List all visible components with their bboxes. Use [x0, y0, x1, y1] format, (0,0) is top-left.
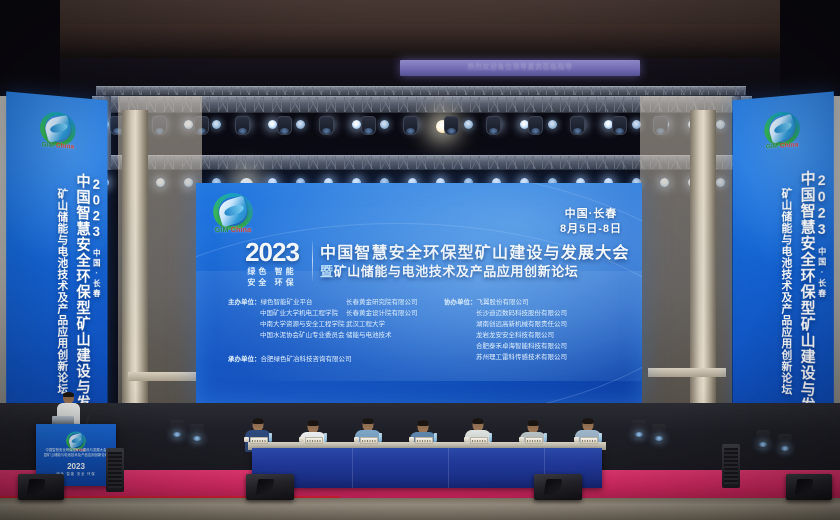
- stage-light-right-2: [652, 424, 666, 442]
- logo-text-sub-bl: China: [56, 143, 74, 151]
- coorg-item-4: 合肥泰禾卓海智能科技有限公司: [444, 341, 567, 352]
- organizer-value: 合肥绿色矿冶科技咨询有限公司: [261, 356, 352, 363]
- tea-cup: [519, 437, 524, 442]
- gim-china-logo-banner-right: GIM China: [762, 110, 803, 155]
- moving-head-fixture: [528, 116, 543, 135]
- stage-monitor-3: [534, 474, 582, 500]
- main-led-screen: GIM China 中国·长春 8月5日-8日 2023 绿色 智能 安全 环保…: [196, 183, 642, 403]
- panelist-nameplate: [415, 437, 433, 444]
- moving-head-fixture: [277, 116, 292, 135]
- moving-head-fixture: [486, 116, 501, 135]
- ceiling-shadow-right: [780, 0, 840, 96]
- podium-sign-line2: 暨矿山储能与电池技术及产品应用创新论坛: [39, 453, 113, 458]
- event-title-main: 中国智慧安全环保型矿山建设与发展大会: [320, 239, 630, 263]
- panelist-hair: [583, 418, 594, 424]
- hosts-label: 主办单位：: [228, 299, 261, 306]
- conference-stage-photo: 热烈欢迎各位领导嘉宾莅临指导 GIM China 2023 中国·长春 中国智慧…: [0, 0, 840, 520]
- venue-led-ticker: 热烈欢迎各位领导嘉宾莅临指导: [400, 60, 640, 76]
- water-bottle: [434, 433, 437, 442]
- panelist-hair: [473, 418, 484, 424]
- hosts-column-1: 主办单位：绿色智能矿业平台 中国矿业大学机电工程学院 中南大学资源与安全工程学院…: [228, 297, 345, 341]
- venue-led-ticker-text: 热烈欢迎各位领导嘉宾莅临指导: [400, 62, 640, 72]
- banner-right-subtitle: 矿山储能与电池技术及产品应用创新论坛: [778, 187, 794, 395]
- moving-head-fixture: [612, 116, 627, 135]
- panelist-hair: [253, 418, 264, 424]
- water-bottle: [269, 433, 272, 442]
- moving-head-fixture: [444, 116, 459, 135]
- event-location-block: 中国·长春 8月5日-8日: [560, 207, 622, 237]
- water-bottle: [379, 433, 382, 442]
- moving-head-fixture: [570, 116, 585, 135]
- logo-text-sub: China: [231, 227, 251, 234]
- moving-head-fixture: [361, 116, 376, 135]
- host2-item-0: 长春黄金研究院有限公司: [346, 297, 418, 308]
- moving-head-fixture: [235, 116, 250, 135]
- tea-cup: [574, 437, 579, 442]
- logo-text-main-bl: GIM: [42, 142, 55, 149]
- panelist-hair: [418, 420, 429, 426]
- tea-cup: [354, 437, 359, 442]
- pa-speaker-left: [106, 448, 124, 492]
- title-divider: [312, 241, 313, 281]
- hosts-column-2: 长春黄金研究院有限公司 长春黄金设计院有限公司 武汉工程大学 储能与电池技术: [346, 297, 418, 341]
- host-item-3: 中国水泥协会矿山专业委员会: [228, 330, 345, 341]
- event-year-block: 2023 绿色 智能 安全 环保: [237, 239, 307, 288]
- water-bottle: [544, 433, 547, 442]
- tea-cup: [299, 437, 304, 442]
- host-item-1: 中国矿业大学机电工程学院: [228, 308, 345, 319]
- banner-right-location: 中国·长春: [817, 247, 828, 299]
- pillar-left: [122, 110, 148, 430]
- coorg-item-3: 龙岩龙安安全科技有限公司: [444, 330, 567, 341]
- stage-monitor-2: [246, 474, 294, 500]
- logo-text-main: GIM: [215, 227, 229, 234]
- coorganizers-label: 协办单位：: [444, 299, 477, 306]
- coorganizers-block: 协办单位：飞翼股份有限公司 长沙迪迈数码科技股份有限公司 湖南创远高新机械有限责…: [444, 297, 567, 363]
- balustrade-right: [648, 368, 726, 377]
- water-bottle: [599, 433, 602, 442]
- banner-left-subtitle: 矿山储能与电池技术及产品应用创新论坛: [54, 188, 70, 395]
- moving-head-fixture: [403, 116, 418, 135]
- event-title-sub-row: 暨矿山储能与电池技术及产品应用创新论坛: [320, 261, 578, 280]
- host-item-2: 中南大学资源与安全工程学院: [228, 319, 345, 330]
- stage-front-edge: [0, 498, 840, 520]
- venue-upper-wall: [0, 0, 840, 24]
- panelist-hair: [308, 420, 319, 426]
- tea-cup: [409, 437, 414, 442]
- event-location: 中国·长春: [560, 207, 622, 222]
- panelist-nameplate: [250, 437, 268, 444]
- water-bottle: [324, 433, 327, 442]
- pa-speaker-right: [722, 444, 740, 488]
- gim-china-logo-banner-left: GIM China: [37, 110, 78, 155]
- event-year: 2023: [237, 239, 307, 266]
- panelist-nameplate: [305, 437, 323, 444]
- ceiling-shadow-left: [0, 0, 60, 96]
- stage-light-right-4: [778, 434, 792, 452]
- host2-item-2: 武汉工程大学: [346, 319, 418, 330]
- coorg-item-2: 湖南创远高新机械有限责任公司: [444, 319, 567, 330]
- stage-light-left-2: [190, 424, 204, 442]
- tea-cup: [464, 437, 469, 442]
- truss-top: [96, 86, 746, 96]
- host-item-0: 绿色智能矿业平台: [261, 299, 313, 306]
- panelist-nameplate: [580, 437, 598, 444]
- organizer-block: 承办单位：合肥绿色矿冶科技咨询有限公司: [228, 353, 352, 363]
- event-title-sub-amp: 暨: [320, 264, 334, 279]
- host2-item-3: 储能与电池技术: [346, 330, 418, 341]
- gim-china-logo-screen: GIM China: [210, 193, 256, 239]
- panelist-hair: [528, 420, 539, 426]
- panelist-nameplate: [360, 437, 378, 444]
- panelist-hair: [363, 418, 374, 424]
- tea-cup: [244, 437, 249, 442]
- coorg-item-1: 长沙迪迈数码科技股份有限公司: [444, 308, 567, 319]
- event-motto-line1: 绿色 智能: [237, 266, 307, 277]
- organizer-label: 承办单位：: [228, 356, 261, 363]
- stage-light-right-3: [756, 430, 770, 448]
- moving-head-fixture: [319, 116, 334, 135]
- panelist-nameplate: [525, 437, 543, 444]
- event-motto-line2: 安全 环保: [237, 277, 307, 288]
- coorg-item-0: 飞翼股份有限公司: [477, 299, 529, 306]
- stage-monitor-1: [18, 474, 64, 500]
- logo-text-main-br: GIM: [766, 143, 778, 150]
- stage-light-right-1: [632, 420, 646, 438]
- stage-monitor-4: [786, 474, 832, 500]
- banner-left-location: 中国·长春: [92, 249, 102, 299]
- panelist-nameplate: [470, 437, 488, 444]
- pillar-right: [690, 110, 716, 430]
- host2-item-1: 长春黄金设计院有限公司: [346, 308, 418, 319]
- event-title-sub: 矿山储能与电池技术及产品应用创新论坛: [334, 264, 579, 279]
- event-dates: 8月5日-8日: [560, 222, 622, 237]
- coorg-item-5: 苏州理工雷科传感技术有限公司: [444, 352, 567, 363]
- balustrade-left: [128, 372, 198, 381]
- water-bottle: [489, 433, 492, 442]
- stage-light-left-1: [170, 420, 184, 438]
- logo-text-sub-br: China: [780, 142, 798, 150]
- podium-year: 2023: [39, 462, 113, 471]
